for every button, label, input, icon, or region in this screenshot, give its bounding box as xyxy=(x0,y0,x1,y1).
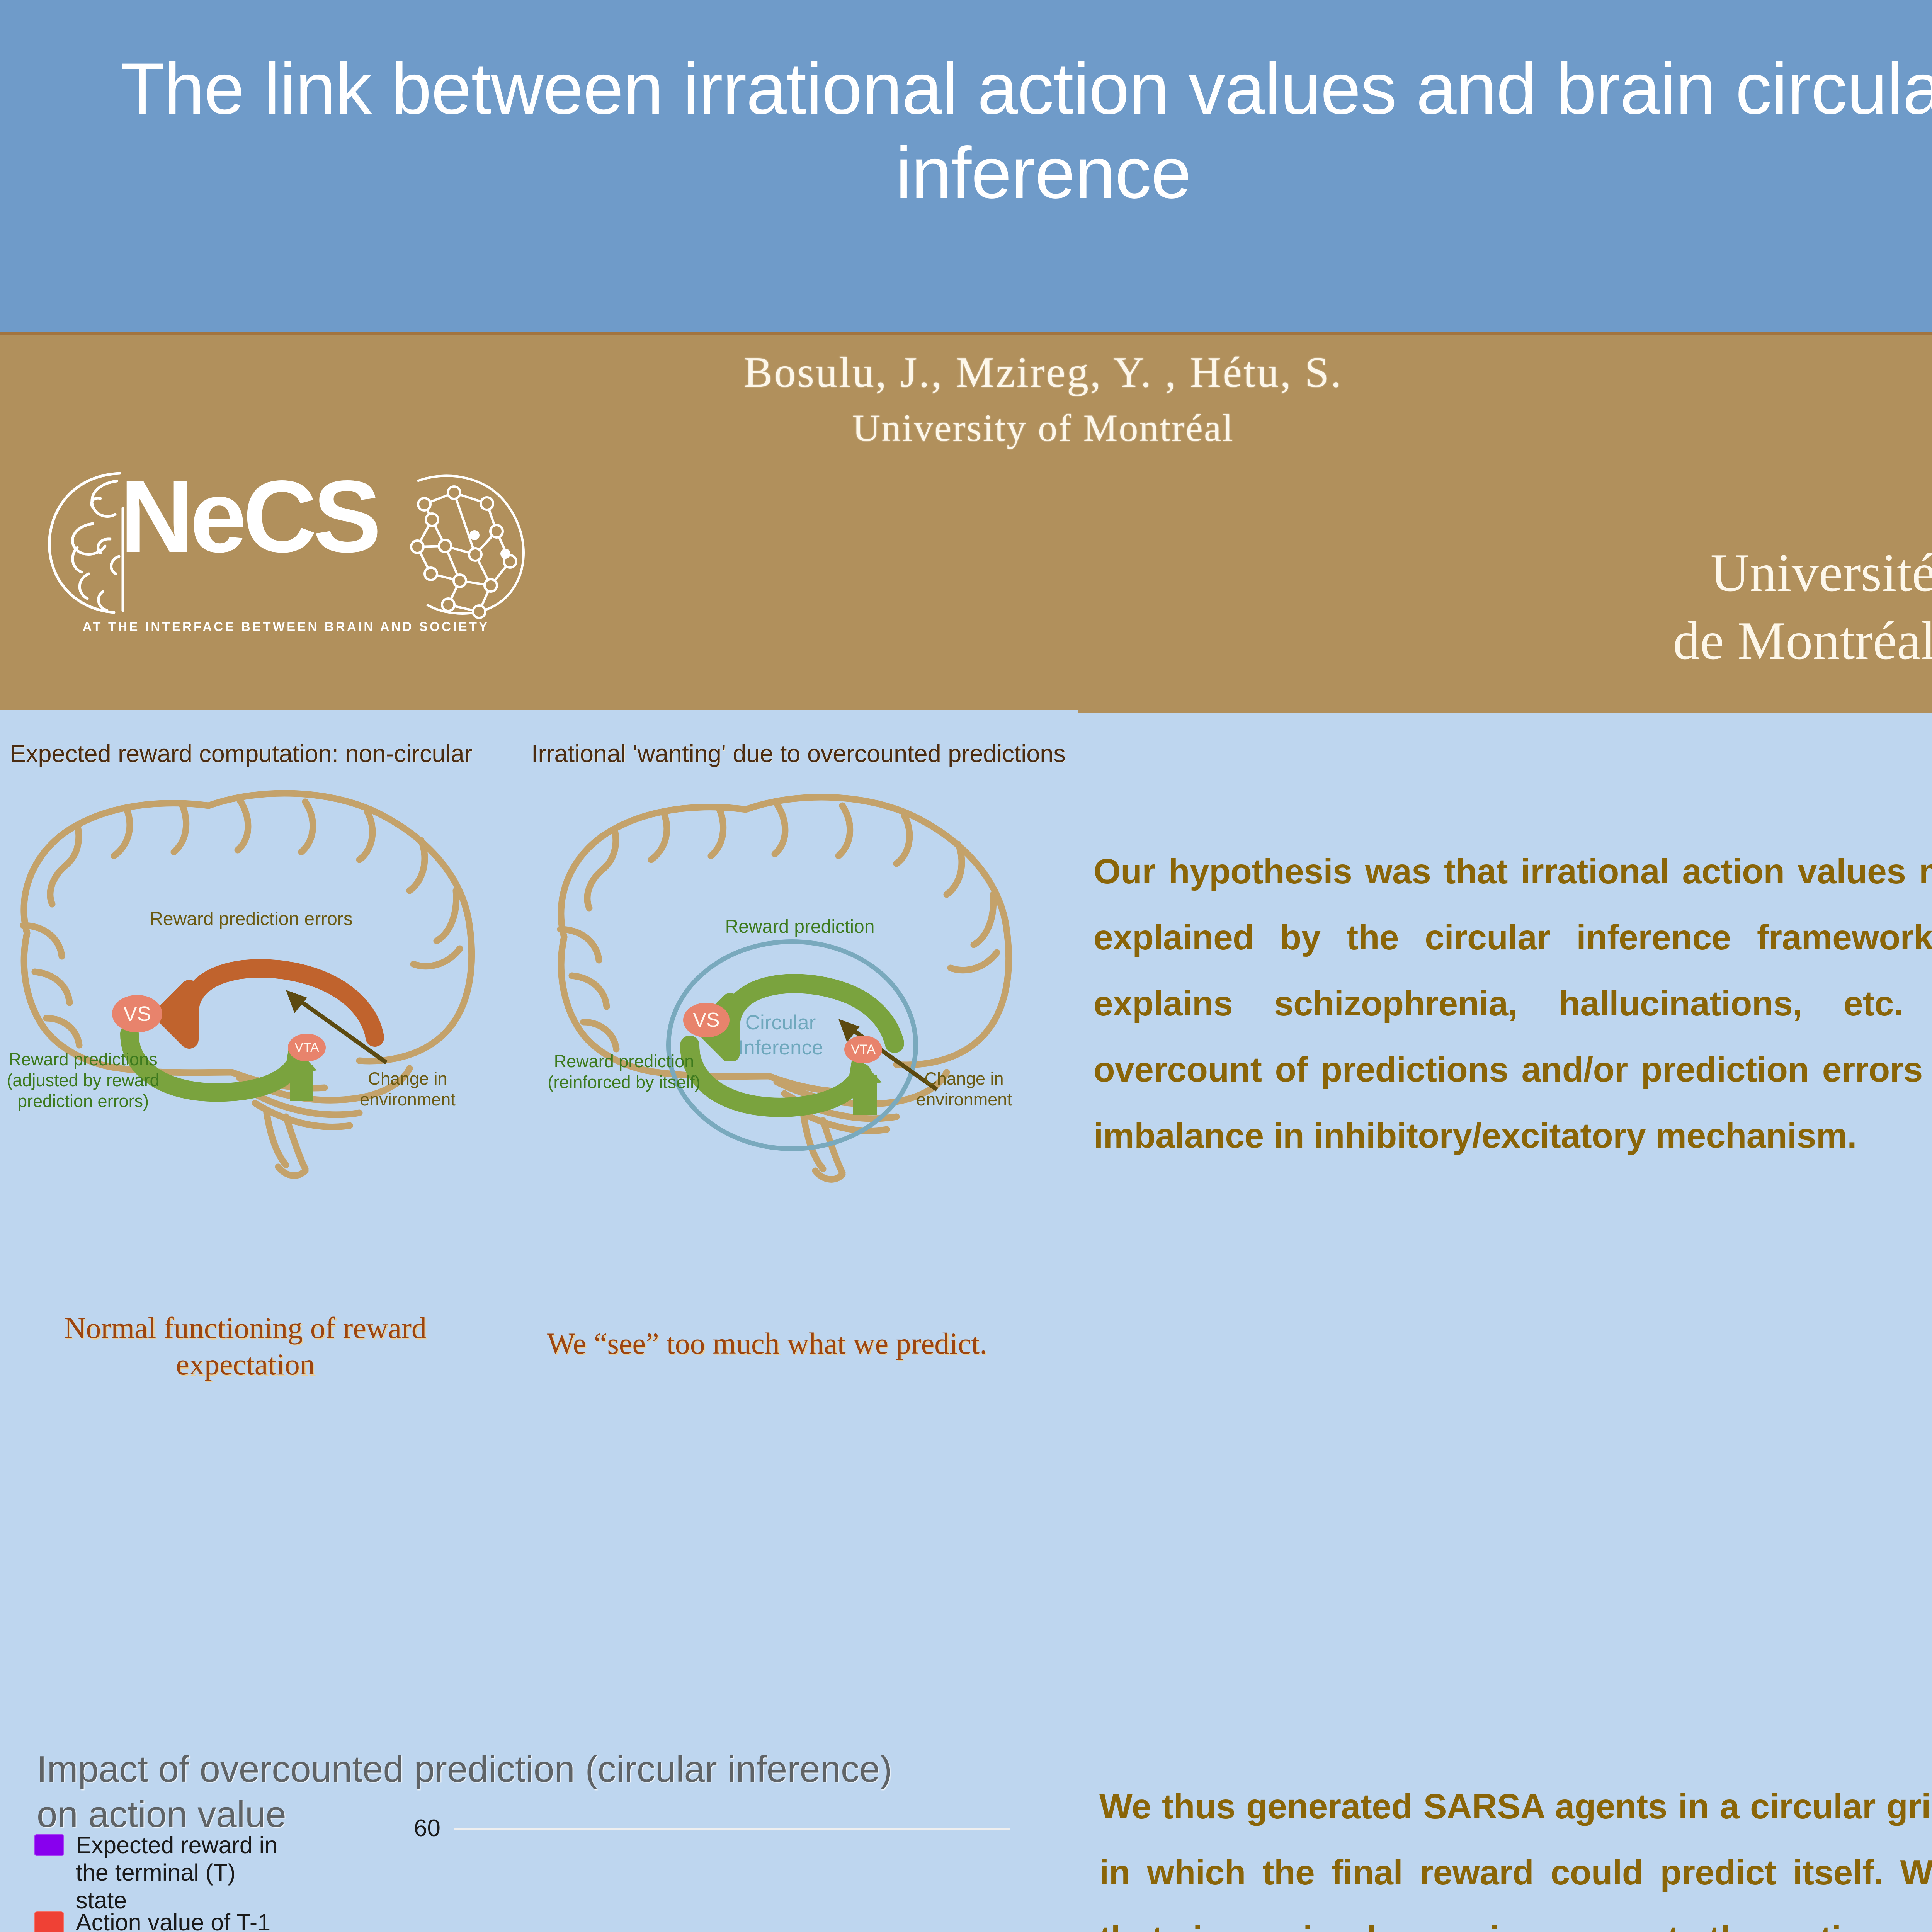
environment-change-arrow-icon xyxy=(270,981,398,1070)
label-reward-prediction-errors: Reward prediction errors xyxy=(139,908,363,930)
node-vta: VTA xyxy=(844,1036,882,1063)
author-band-notch xyxy=(0,710,1078,714)
bar-chart-plot: 020406050010001500200010000Iteration xyxy=(359,1828,1036,1932)
udem-wordmark: Université de Montréal xyxy=(1573,539,1932,675)
legend-item-0: Expected reward in the terminal (T) stat… xyxy=(34,1832,292,1914)
label-circular-inference: Circular Inference xyxy=(723,1010,838,1060)
label-reward-predictions: Reward predictions (adjusted by reward p… xyxy=(0,1049,170,1112)
label-reward-prediction-reinforced: Reward prediction (reinforced by itself) xyxy=(537,1051,711,1093)
legend-label: Expected reward in the terminal (T) stat… xyxy=(76,1832,292,1914)
page-title: The link between irrational action value… xyxy=(46,46,1932,215)
legend-item-1: Action value of T-1 state in non circula… xyxy=(34,1909,292,1932)
hypothesis-paragraph: Our hypothesis was that irrational actio… xyxy=(1094,838,1932,1169)
y-axis-tick: 60 xyxy=(359,1815,440,1842)
node-vs: VS xyxy=(112,995,162,1032)
chart-title: Impact of overcounted prediction (circul… xyxy=(37,1747,925,1837)
necs-wordmark: NeCS xyxy=(120,466,378,568)
udem-line2: de Montréal xyxy=(1573,607,1932,675)
legend-swatch-icon xyxy=(34,1911,64,1932)
udem-logo: Université de Montréal xyxy=(1565,481,1932,686)
necs-logo: NeCS AT THE INTERFACE BETWEEN BRAIN AND … xyxy=(31,458,541,674)
node-vta: VTA xyxy=(288,1034,326,1061)
brain-diagram-circular: VS VTA Reward prediction Circular Infere… xyxy=(529,763,1063,1316)
legend-label: Action value of T-1 state in non circula… xyxy=(76,1909,292,1932)
label-change-in-environment: Change in environment xyxy=(332,1068,483,1110)
brain-diagram-noncircular: VS VTA Reward prediction errors Reward p… xyxy=(0,763,533,1316)
legend-swatch-icon xyxy=(34,1834,64,1856)
results-paragraph: We thus generated SARSA agents in a circ… xyxy=(1099,1774,1932,1932)
affiliation: University of Montréal xyxy=(386,406,1700,450)
caption-normal-functioning: Normal functioning of reward expectation xyxy=(8,1310,483,1382)
gridline xyxy=(454,1828,1010,1830)
necs-tagline: AT THE INTERFACE BETWEEN BRAIN AND SOCIE… xyxy=(39,619,533,634)
label-change-in-environment: Change in environment xyxy=(889,1068,1039,1110)
udem-line1: Université xyxy=(1573,539,1932,607)
author-band-top-rule xyxy=(0,332,1932,335)
caption-we-see-too-much: We “see” too much what we predict. xyxy=(529,1325,1005,1362)
author-list: Bosulu, J., Mzireg, Y. , Hétu, S. xyxy=(386,347,1700,398)
label-reward-prediction: Reward prediction xyxy=(692,916,908,938)
